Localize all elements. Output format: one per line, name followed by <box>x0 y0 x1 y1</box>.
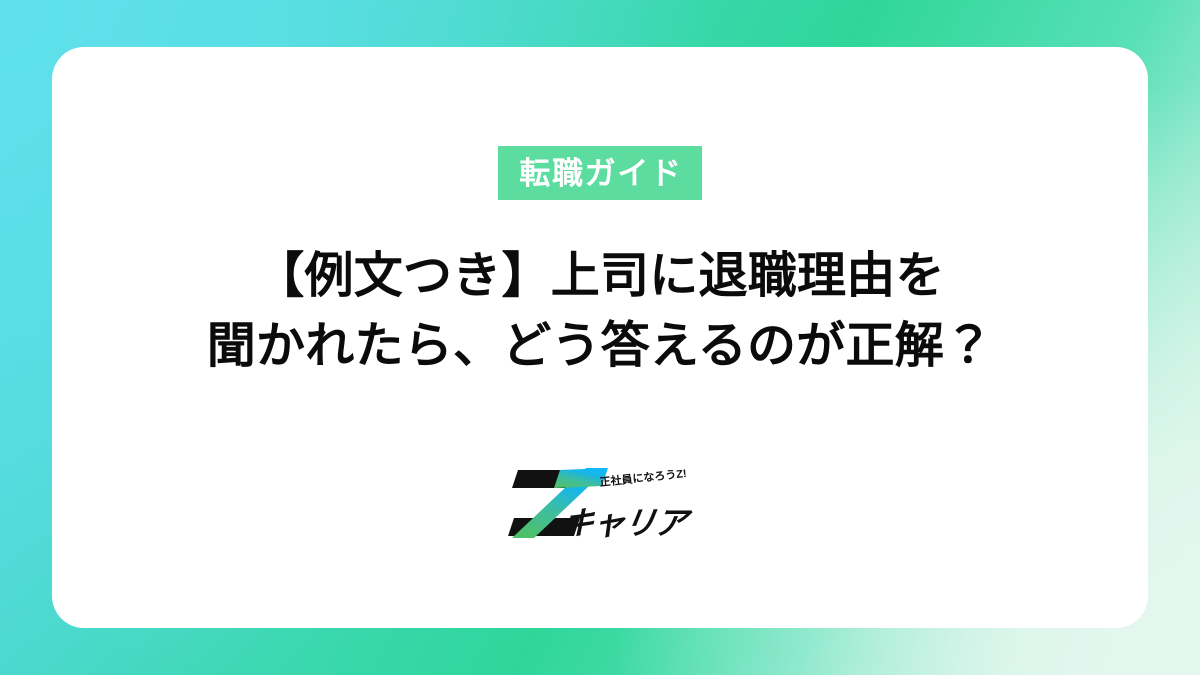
page-title-line-1: 【例文つき】上司に退職理由を <box>207 242 993 312</box>
brand-logo[interactable]: 正社員になろうZ! キャリア <box>500 460 700 546</box>
content-card: 転職ガイド 【例文つき】上司に退職理由を 聞かれたら、どう答えるのが正解？ <box>52 47 1148 628</box>
logo-wordmark: キャリア <box>559 505 694 541</box>
category-badge: 転職ガイド <box>498 146 702 200</box>
brand-logo-svg: 正社員になろうZ! キャリア <box>500 460 700 546</box>
logo-tagline: 正社員になろうZ! <box>599 466 687 489</box>
page-title: 【例文つき】上司に退職理由を 聞かれたら、どう答えるのが正解？ <box>207 242 993 381</box>
background-gradient: 転職ガイド 【例文つき】上司に退職理由を 聞かれたら、どう答えるのが正解？ <box>0 0 1200 675</box>
page-title-line-2: 聞かれたら、どう答えるのが正解？ <box>207 312 993 382</box>
